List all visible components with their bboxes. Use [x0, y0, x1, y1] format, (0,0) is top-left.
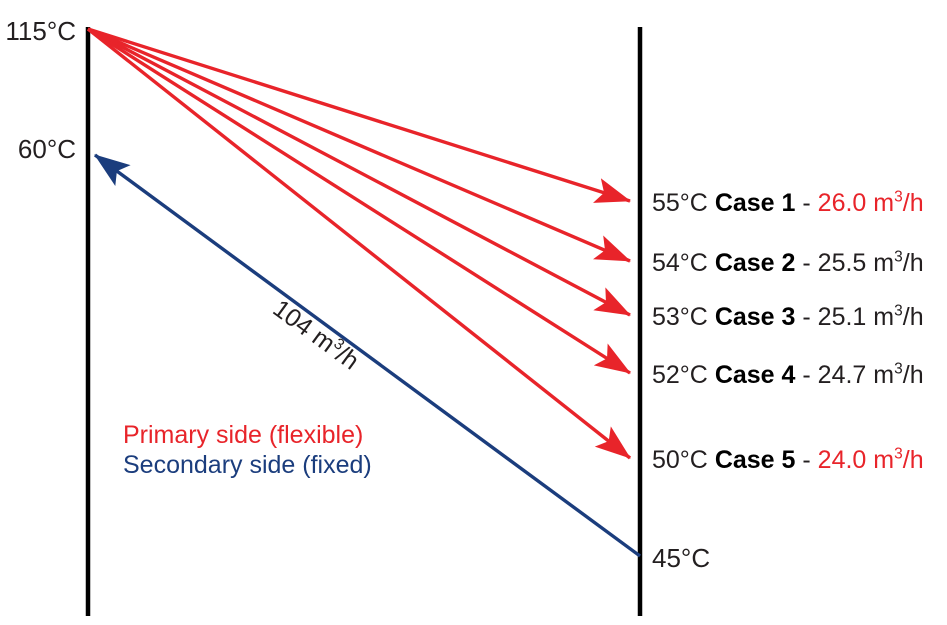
case-row: 55°C Case 1 - 26.0 m3/h: [652, 191, 924, 216]
secondary-outlet-temperature-label: 60°C: [0, 136, 76, 162]
case-outlet-temperature: 50°C: [652, 446, 708, 474]
primary-line-case-2: [88, 29, 630, 261]
case-name: Case 3: [715, 303, 796, 331]
case-row: 52°C Case 4 - 24.7 m3/h: [652, 363, 924, 388]
case-row: 53°C Case 3 - 25.1 m3/h: [652, 305, 924, 330]
primary-line-case-4: [88, 29, 630, 373]
case-name: Case 2: [715, 249, 796, 277]
case-outlet-temperature: 54°C: [652, 249, 708, 277]
case-outlet-temperature: 55°C: [652, 189, 708, 217]
case-name: Case 4: [715, 361, 796, 389]
secondary-line: [95, 155, 640, 556]
secondary-inlet-temperature-label: 45°C: [652, 545, 710, 571]
primary-line-case-3: [88, 29, 630, 315]
case-flow-rate: 25.5 m3/h: [818, 249, 924, 277]
legend-secondary-side: Secondary side (fixed): [123, 453, 372, 478]
primary-line-case-1: [88, 29, 630, 201]
case-flow-rate: 24.0 m3/h: [818, 446, 924, 474]
primary-inlet-temperature-label: 115°C: [0, 18, 76, 44]
case-outlet-temperature: 52°C: [652, 361, 708, 389]
case-separator: -: [802, 446, 810, 474]
case-separator: -: [802, 361, 810, 389]
case-flow-rate: 26.0 m3/h: [818, 189, 924, 217]
case-flow-rate: 24.7 m3/h: [818, 361, 924, 389]
diagram-canvas: 115°C 60°C 104 m3/h Primary side (flexib…: [0, 0, 947, 625]
case-row: 50°C Case 5 - 24.0 m3/h: [652, 448, 924, 473]
case-name: Case 5: [715, 446, 796, 474]
case-separator: -: [802, 303, 810, 331]
case-separator: -: [802, 189, 810, 217]
case-name: Case 1: [715, 189, 796, 217]
legend-primary-side: Primary side (flexible): [123, 423, 363, 448]
case-separator: -: [802, 249, 810, 277]
case-outlet-temperature: 53°C: [652, 303, 708, 331]
case-row: 54°C Case 2 - 25.5 m3/h: [652, 251, 924, 276]
primary-line-case-5: [88, 29, 630, 458]
case-flow-rate: 25.1 m3/h: [818, 303, 924, 331]
